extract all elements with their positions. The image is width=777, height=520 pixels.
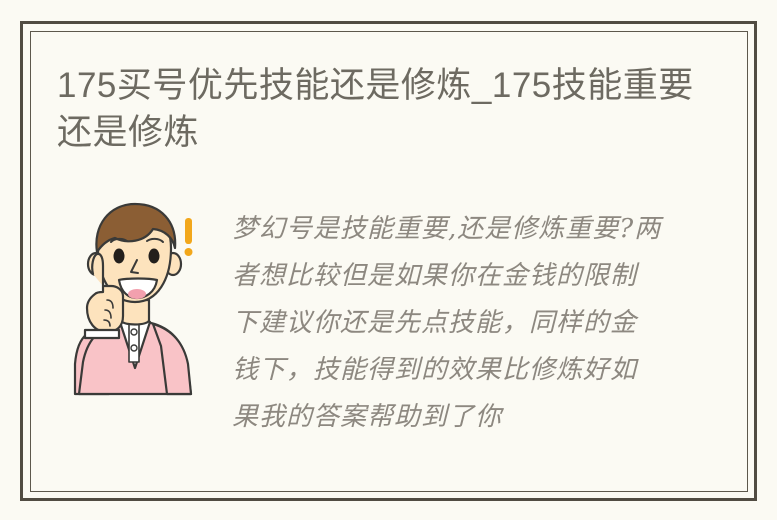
article-content: 梦幻号是技能重要,还是修炼重要?两者想比较但是如果你在金钱的限制下建议你还是先点… [57,196,717,411]
page-title: 175买号优先技能还是修炼_175技能重要还是修炼 [57,62,717,156]
tongue [128,289,146,299]
shirt-placket [129,322,139,362]
shirt-button-top [131,329,137,335]
wrist-cuff [85,330,119,338]
exclamation-icon [185,218,193,256]
exclamation-dot [185,248,193,256]
exclamation-stem [185,218,192,244]
cartoon-man-pointing-up-illustration [57,196,213,396]
right-eye [149,249,160,264]
left-eye [114,249,125,264]
neck [121,300,149,325]
article-body-text: 梦幻号是技能重要,还是修炼重要?两者想比较但是如果你在金钱的限制下建议你还是先点… [232,206,662,441]
article-page: 175买号优先技能还是修炼_175技能重要还是修炼 [0,0,777,520]
shirt-button-bottom [131,345,137,351]
